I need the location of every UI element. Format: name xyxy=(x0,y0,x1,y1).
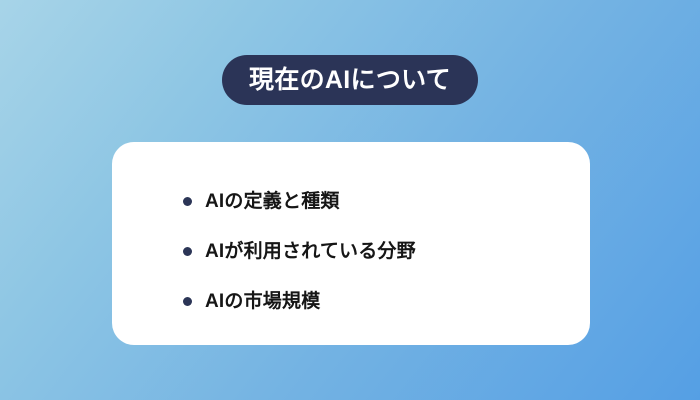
list-item: AIの市場規模 xyxy=(183,276,590,326)
content-card: AIの定義と種類 AIが利用されている分野 AIの市場規模 xyxy=(112,142,590,345)
list-item-label: AIの定義と種類 xyxy=(205,192,340,211)
list-item-label: AIが利用されている分野 xyxy=(205,242,416,261)
bullet-list: AIの定義と種類 AIが利用されている分野 AIの市場規模 xyxy=(183,176,590,326)
bullet-dot-icon xyxy=(183,247,192,256)
slide-canvas: 現在のAIについて AIの定義と種類 AIが利用されている分野 AIの市場規模 xyxy=(0,0,700,400)
list-item: AIの定義と種類 xyxy=(183,176,590,226)
list-item: AIが利用されている分野 xyxy=(183,226,590,276)
bullet-dot-icon xyxy=(183,197,192,206)
list-item-label: AIの市場規模 xyxy=(205,292,320,311)
page-title: 現在のAIについて xyxy=(249,68,451,93)
slide-title-pill: 現在のAIについて xyxy=(222,55,478,105)
bullet-dot-icon xyxy=(183,297,192,306)
